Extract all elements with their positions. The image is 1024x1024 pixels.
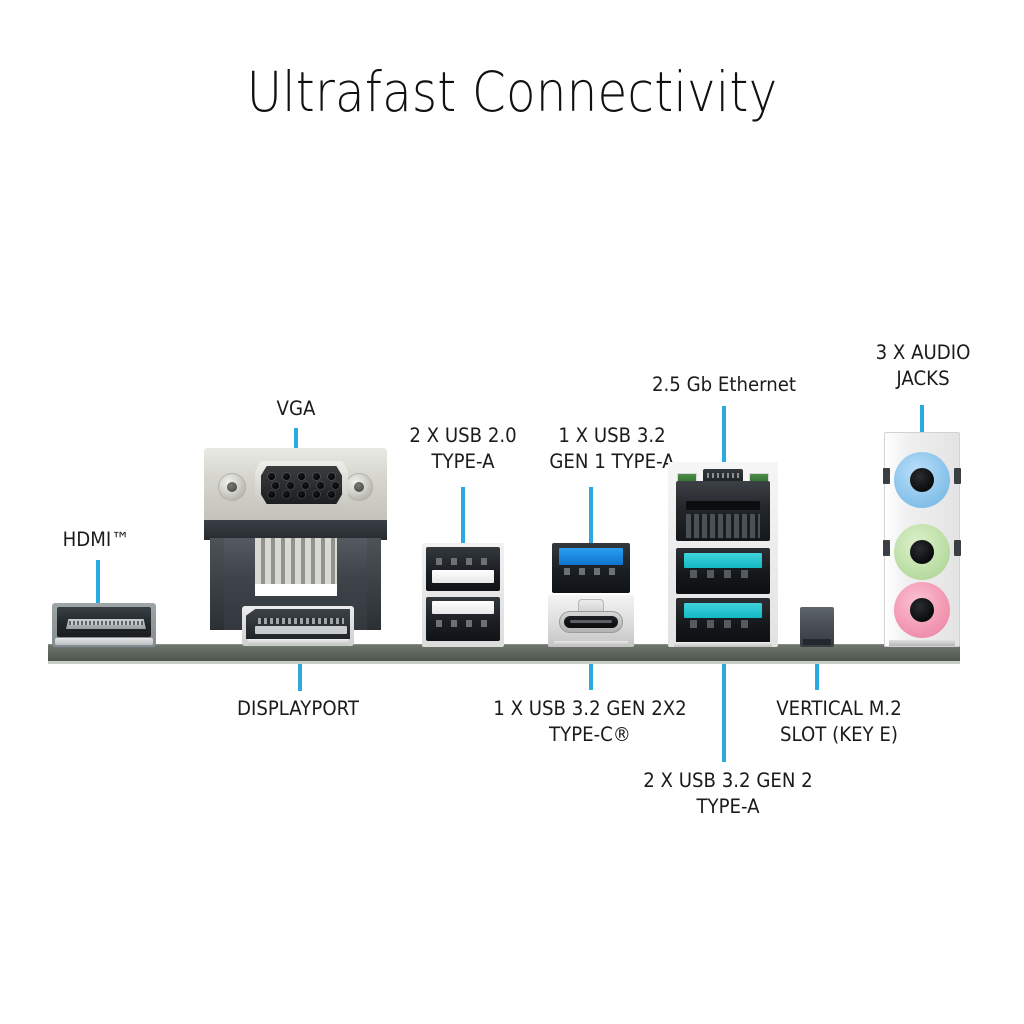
audio-bracket-tab-left-mid [883, 540, 890, 556]
vga-opening [261, 466, 342, 504]
vga-pin [328, 473, 335, 480]
usb-3-2-gen2-contacts-top [690, 570, 756, 578]
bracket-fins [255, 538, 337, 584]
displayport-shell [246, 609, 350, 639]
bracket-leg-left [210, 538, 224, 630]
usb-3-2-gen2-port-top[interactable] [676, 548, 770, 594]
callout-label-hdmi: HDMI™ [40, 527, 152, 553]
callout-label-usb20: 2 X USB 2.0 TYPE-A [387, 423, 540, 475]
vga-pin-row-middle [272, 482, 339, 489]
page-title: Ultrafast Connectivity [61, 60, 962, 124]
vga-port[interactable] [204, 448, 387, 522]
type-c-opening [564, 616, 618, 628]
audio-jack-microphone[interactable] [894, 582, 950, 638]
line-out-hole [910, 540, 934, 564]
audio-bracket-tab-left-top [883, 468, 890, 484]
usb-3-2-gen1-contacts [564, 568, 618, 575]
io-panel-diagram: Ultrafast Connectivity HDMI™ VGA 2 X USB… [0, 0, 1024, 1024]
hdmi-port[interactable] [52, 603, 156, 647]
usb-type-c-port[interactable] [548, 595, 634, 647]
callout-label-m2slot: VERTICAL M.2 SLOT (KEY E) [753, 696, 926, 748]
callout-label-typec: 1 X USB 3.2 GEN 2X2 TYPE-C® [475, 696, 706, 748]
bracket-leg-right [367, 538, 381, 630]
displayport-port[interactable] [242, 606, 354, 646]
vga-pin [328, 491, 335, 498]
vga-pin-row-top [268, 473, 335, 480]
displayport-contacts [258, 618, 344, 624]
callout-label-audio: 3 X AUDIO JACKS [855, 340, 991, 392]
rj45-opening [686, 501, 760, 510]
io-board-shadow [48, 661, 960, 664]
vga-pin [332, 482, 339, 489]
vga-mount-body [204, 520, 387, 540]
vga-pin [283, 491, 290, 498]
vga-pin [298, 491, 305, 498]
callout-label-ethernet: 2.5 Gb Ethernet [635, 372, 814, 398]
callout-label-displayport: DISPLAYPORT [220, 696, 376, 722]
audio-bracket-tab-right-mid [954, 540, 961, 556]
microphone-hole [910, 598, 934, 622]
usb-3-2-gen2-port-bottom[interactable] [676, 598, 770, 644]
audio-jack-line-in[interactable] [894, 452, 950, 508]
usb-2-0-port-top[interactable] [426, 547, 500, 591]
vga-pin [268, 491, 275, 498]
ethernet-port[interactable] [676, 469, 770, 541]
audio-stack-base [889, 640, 955, 646]
lan-stack-base [674, 642, 772, 647]
hdmi-shell [57, 607, 151, 637]
hdmi-opening [66, 619, 146, 629]
vga-pin-row-bottom [268, 491, 335, 498]
vga-pin [287, 482, 294, 489]
vga-pin [283, 473, 290, 480]
vertical-m2-key-e-slot[interactable] [800, 607, 834, 647]
ethernet-usb-stack[interactable] [668, 462, 778, 647]
rj45-shell [676, 481, 770, 541]
vga-pin [313, 491, 320, 498]
vga-pin [317, 482, 324, 489]
callout-label-vga: VGA [240, 396, 352, 422]
usb-3-2-gen2-tongue-bottom [684, 603, 762, 618]
vga-displayport-bracket [198, 448, 393, 647]
vga-screw-left [218, 473, 246, 501]
vga-pin [313, 473, 320, 480]
usb-2-0-type-a-stack[interactable] [422, 543, 504, 647]
usb-2-0-contacts-top [436, 558, 490, 565]
vga-pin [268, 473, 275, 480]
vga-pin [272, 482, 279, 489]
usb-3-2-gen2-tongue-top [684, 553, 762, 568]
usb-3-2-gen1-and-typec-stack[interactable] [548, 543, 634, 647]
type-c-shell [559, 611, 623, 633]
type-c-base [554, 641, 628, 646]
usb-3-2-gen1-type-a-port[interactable] [552, 543, 630, 593]
usb-2-0-tongue-top [432, 570, 494, 583]
usb-2-0-tongue-bottom [432, 601, 494, 614]
audio-jack-stack[interactable] [884, 432, 960, 647]
hdmi-base [55, 638, 153, 645]
usb-2-0-port-bottom[interactable] [426, 597, 500, 641]
vga-screw-right [345, 473, 373, 501]
displayport-opening [255, 626, 347, 634]
displayport-base [248, 639, 348, 645]
rj45-contacts [686, 514, 760, 538]
audio-jack-line-out[interactable] [894, 524, 950, 580]
callout-label-usb32gen2: 2 X USB 3.2 GEN 2 TYPE-A [616, 768, 839, 820]
vga-pin [302, 482, 309, 489]
usb-3-2-gen2-contacts-bottom [690, 620, 756, 628]
vga-pin [298, 473, 305, 480]
line-in-hole [910, 468, 934, 492]
audio-bracket-tab-right-top [954, 468, 961, 484]
usb-3-2-gen1-tongue [559, 548, 623, 565]
usb-2-0-contacts-bottom [436, 620, 490, 627]
